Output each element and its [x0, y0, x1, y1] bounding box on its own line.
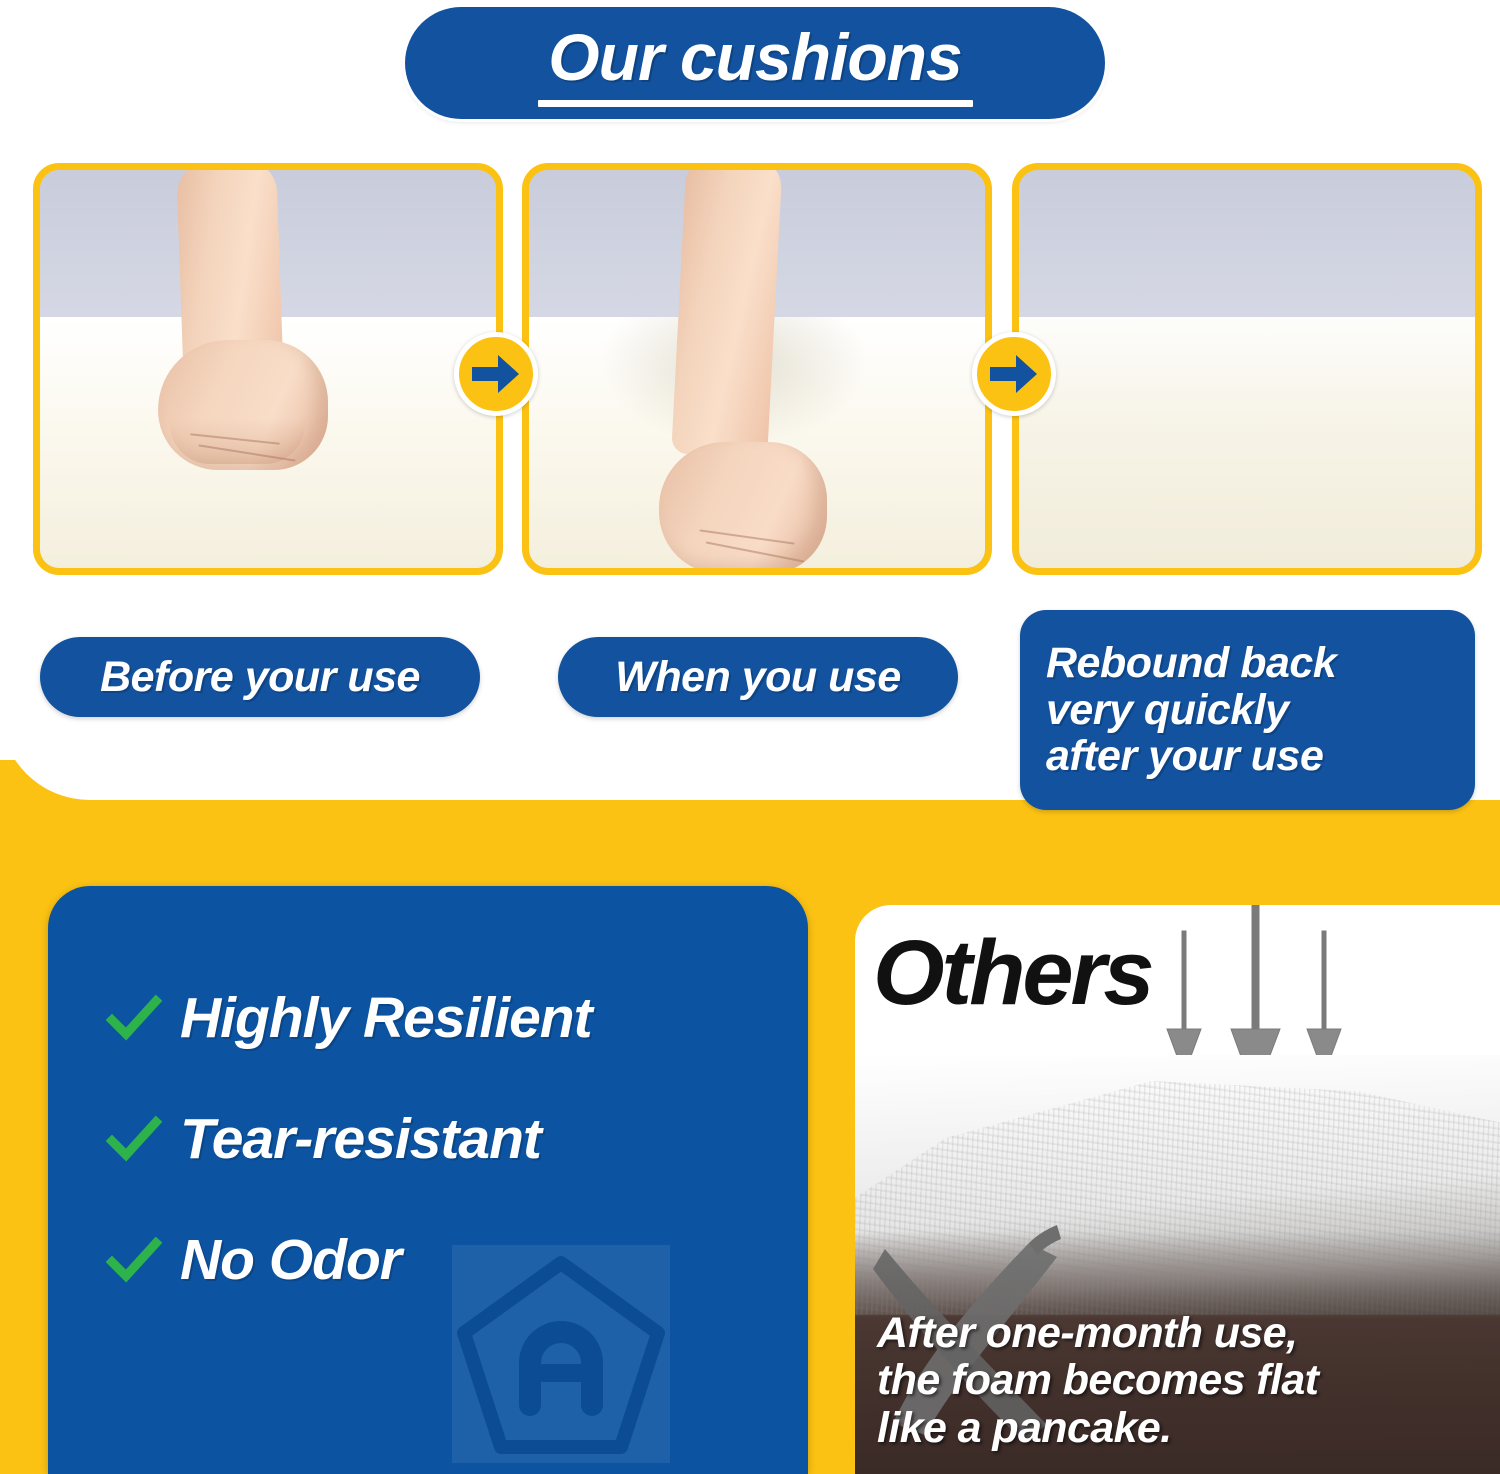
others-caption-line-3: like a pancake.: [877, 1405, 1477, 1452]
photo-content-before: [40, 170, 496, 568]
check-icon: [106, 991, 162, 1047]
photo-background-wall: [1019, 170, 1475, 317]
step-photo-before: [33, 163, 503, 575]
caption-line-1: Rebound back: [1046, 640, 1336, 686]
title-underline: [538, 100, 973, 107]
fist-shape: [659, 442, 827, 574]
feature-item-highly-resilient: Highly Resilient: [106, 990, 592, 1047]
page-title: Our cushions: [548, 24, 961, 90]
others-title: Others: [873, 927, 1152, 1019]
product-infographic: Our cushions: [0, 0, 1500, 1474]
others-caption-line-2: the foam becomes flat: [877, 1357, 1477, 1404]
caption-rebound: Rebound back very quickly after your use: [1020, 610, 1475, 810]
others-comparison-panel: Others: [855, 905, 1500, 1474]
others-caption-line-1: After one-month use,: [877, 1310, 1477, 1357]
feature-label: Tear-resistant: [180, 1111, 541, 1168]
others-caption: After one-month use, the foam becomes fl…: [877, 1310, 1477, 1452]
right-arrow-icon: [454, 332, 538, 416]
page-title-badge: Our cushions: [405, 7, 1105, 119]
photo-content-rebound: [1019, 170, 1475, 568]
foam-surface-recovered: [1019, 317, 1475, 568]
feature-label: No Odor: [180, 1232, 401, 1289]
caption-text: Before your use: [100, 653, 420, 702]
top-white-section: Our cushions: [0, 0, 1500, 800]
check-icon: [106, 1233, 162, 1289]
caption-line-2: very quickly: [1046, 687, 1289, 733]
right-arrow-icon: [972, 332, 1056, 416]
photo-content-when-used: [529, 170, 985, 568]
feature-item-no-odor: No Odor: [106, 1232, 401, 1289]
feature-label: Highly Resilient: [180, 990, 592, 1047]
features-panel: Highly Resilient Tear-resistant No Odor: [48, 886, 808, 1474]
step-photo-rebound: [1012, 163, 1482, 575]
caption-before-your-use: Before your use: [40, 637, 480, 717]
step-photo-when-used: [522, 163, 992, 575]
caption-line-3: after your use: [1046, 733, 1323, 779]
forearm-shape: [671, 163, 783, 458]
feature-item-tear-resistant: Tear-resistant: [106, 1111, 541, 1168]
pentagon-a-logo-watermark: [452, 1245, 670, 1463]
caption-text: When you use: [615, 653, 900, 702]
caption-when-you-use: When you use: [558, 637, 958, 717]
flattened-foam-photo: After one-month use, the foam becomes fl…: [855, 1055, 1500, 1474]
check-icon: [106, 1112, 162, 1168]
